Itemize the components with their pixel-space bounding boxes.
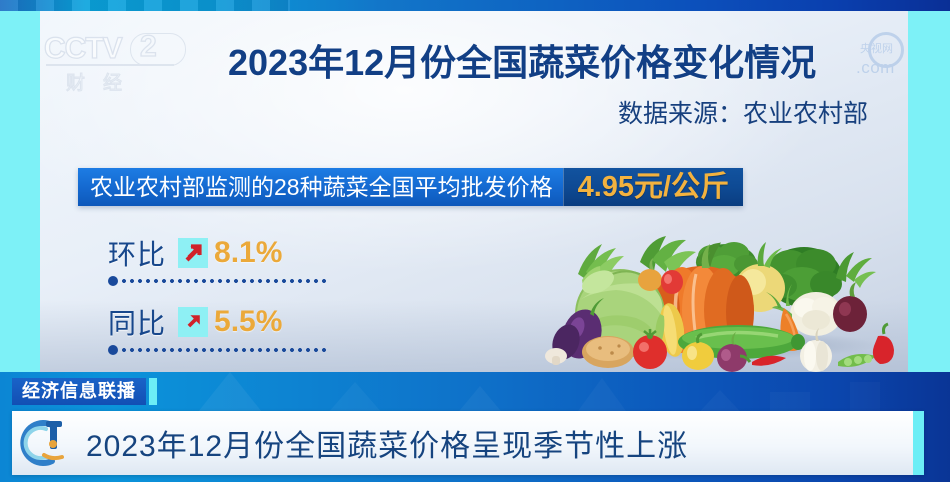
panel-right-cyan-bar bbox=[908, 11, 950, 372]
stat-value: 8.1% bbox=[214, 236, 282, 270]
cctv-channel-logo: CCTV 2 财经 bbox=[44, 32, 184, 94]
data-source-label: 数据来源：农业农村部 bbox=[228, 94, 868, 130]
ticker-headline: 2023年12月份全国蔬菜价格呈现季节性上涨 bbox=[86, 421, 688, 465]
program-logo-icon bbox=[12, 411, 86, 475]
bullet-dot-icon bbox=[108, 276, 118, 286]
dotted-line bbox=[120, 348, 326, 352]
cctv-logo-pill bbox=[130, 33, 186, 66]
news-ticker: 2023年12月份全国蔬菜价格呈现季节性上涨 bbox=[12, 411, 924, 475]
price-banner-value: 4.95元/公斤 bbox=[563, 168, 744, 206]
program-name-label: 经济信息联播 bbox=[12, 378, 146, 405]
stat-underline bbox=[108, 276, 326, 285]
cctv-logo-subtitle: 财经 bbox=[66, 68, 140, 95]
top-stripe-blocks bbox=[0, 0, 290, 11]
ticker-accent-bar bbox=[913, 411, 924, 475]
program-badge-accent bbox=[149, 378, 157, 405]
stat-underline bbox=[108, 345, 326, 354]
stat-row: 环比 8.1% bbox=[108, 232, 282, 278]
cctv-logo-underline bbox=[46, 64, 174, 66]
vegetables-illustration bbox=[520, 222, 910, 372]
stat-label: 环比 bbox=[108, 233, 166, 273]
cctv-logo-number: 2 bbox=[140, 30, 157, 64]
dotted-line bbox=[120, 279, 326, 283]
program-logo-svg bbox=[12, 411, 86, 475]
stat-row: 同比 5.5% bbox=[108, 301, 282, 347]
panel-left-cyan-bar bbox=[0, 11, 40, 372]
vegetables-svg bbox=[520, 222, 910, 372]
bullet-dot-icon bbox=[108, 345, 118, 355]
cctv-logo-text: CCTV bbox=[44, 32, 122, 66]
arrow-up-right-icon bbox=[178, 307, 208, 337]
top-color-stripe bbox=[0, 0, 950, 11]
page-title: 2023年12月份全国蔬菜价格变化情况 bbox=[228, 34, 868, 86]
stat-label: 同比 bbox=[108, 302, 166, 342]
program-name-badge: 经济信息联播 bbox=[12, 378, 157, 405]
price-banner: 农业农村部监测的28种蔬菜全国平均批发价格 4.95元/公斤 bbox=[78, 168, 743, 206]
price-banner-label: 农业农村部监测的28种蔬菜全国平均批发价格 bbox=[78, 168, 563, 206]
broadcast-screen: CCTV 2 财经 央视网 .com 2023年12月份全国蔬菜价格变化情况 数… bbox=[0, 0, 950, 482]
stat-value: 5.5% bbox=[214, 305, 282, 339]
arrow-up-right-icon bbox=[178, 238, 208, 268]
